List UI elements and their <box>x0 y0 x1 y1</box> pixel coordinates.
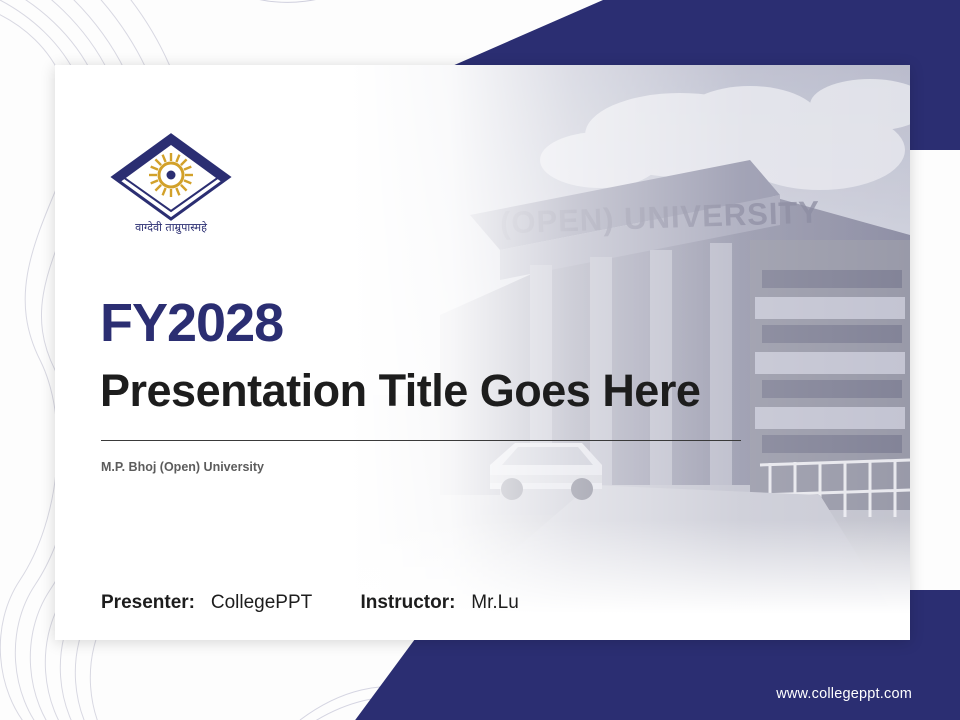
presenter-label: Presenter: <box>101 592 195 613</box>
photo-bottom-fade <box>350 520 910 640</box>
instructor-label: Instructor: <box>360 592 455 613</box>
university-emblem-logo: वाग्देवी ताम्रुपास्महे <box>103 125 239 245</box>
fiscal-year-heading: FY2028 <box>100 292 283 354</box>
credits-line: Presenter: CollegePPT Instructor: Mr.Lu <box>101 592 519 614</box>
title-card: (OPEN) UNIVERSITY <box>55 65 910 640</box>
campus-building-photo: (OPEN) UNIVERSITY <box>350 65 910 640</box>
university-name-subtitle: M.P. Bhoj (Open) University <box>101 460 264 474</box>
title-divider-rule <box>101 440 741 441</box>
website-url: www.collegeppt.com <box>776 686 912 702</box>
emblem-motto-text: वाग्देवी ताम्रुपास्महे <box>135 221 207 234</box>
presentation-title: Presentation Title Goes Here <box>100 365 700 417</box>
presenter-value: CollegePPT <box>211 592 312 613</box>
presentation-slide: (OPEN) UNIVERSITY <box>0 0 960 720</box>
instructor-value: Mr.Lu <box>471 592 519 613</box>
